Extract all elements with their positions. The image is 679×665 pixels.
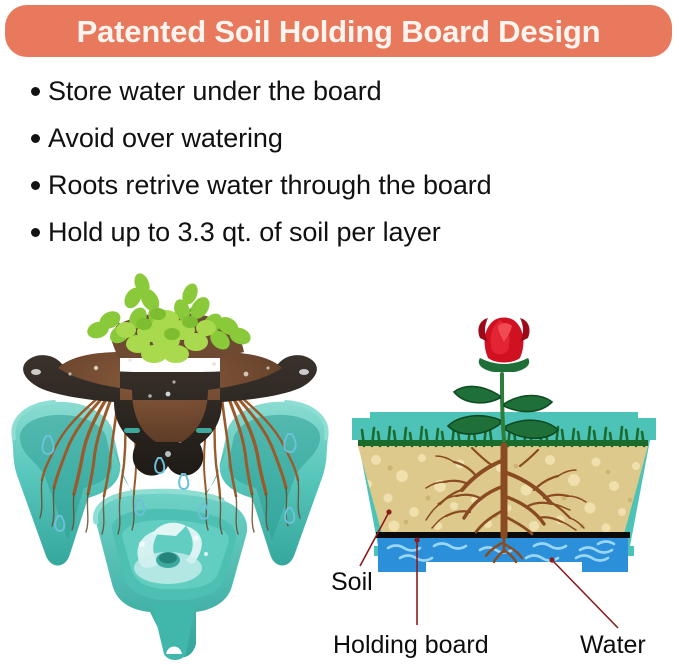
feature-text: Avoid over watering xyxy=(48,121,283,155)
bullet-point-icon xyxy=(22,74,48,96)
rose-plant xyxy=(448,318,558,441)
rose-bloom xyxy=(478,318,529,373)
bullet-point-icon xyxy=(22,121,48,143)
list-item: Hold up to 3.3 qt. of soil per layer xyxy=(22,215,672,262)
infographic-page: Patented Soil Holding Board Design Store… xyxy=(0,0,679,665)
bullet-point-icon xyxy=(22,168,48,190)
feature-text: Hold up to 3.3 qt. of soil per layer xyxy=(48,215,441,249)
cross-section-diagram xyxy=(330,300,679,600)
list-item: Roots retrive water through the board xyxy=(22,168,672,215)
feature-list: Store water under the board Avoid over w… xyxy=(22,74,672,262)
bullet-point-icon xyxy=(22,215,48,237)
feature-text: Store water under the board xyxy=(48,74,382,108)
list-item: Store water under the board xyxy=(22,74,672,121)
product-photo xyxy=(0,268,340,665)
callout-label-water: Water xyxy=(580,633,646,658)
callout-label-soil: Soil xyxy=(331,570,373,595)
header-banner: Patented Soil Holding Board Design xyxy=(5,5,672,57)
list-item: Avoid over watering xyxy=(22,121,672,168)
callout-label-holding-board: Holding board xyxy=(333,633,489,658)
page-title: Patented Soil Holding Board Design xyxy=(77,16,601,47)
feature-text: Roots retrive water through the board xyxy=(48,168,492,202)
